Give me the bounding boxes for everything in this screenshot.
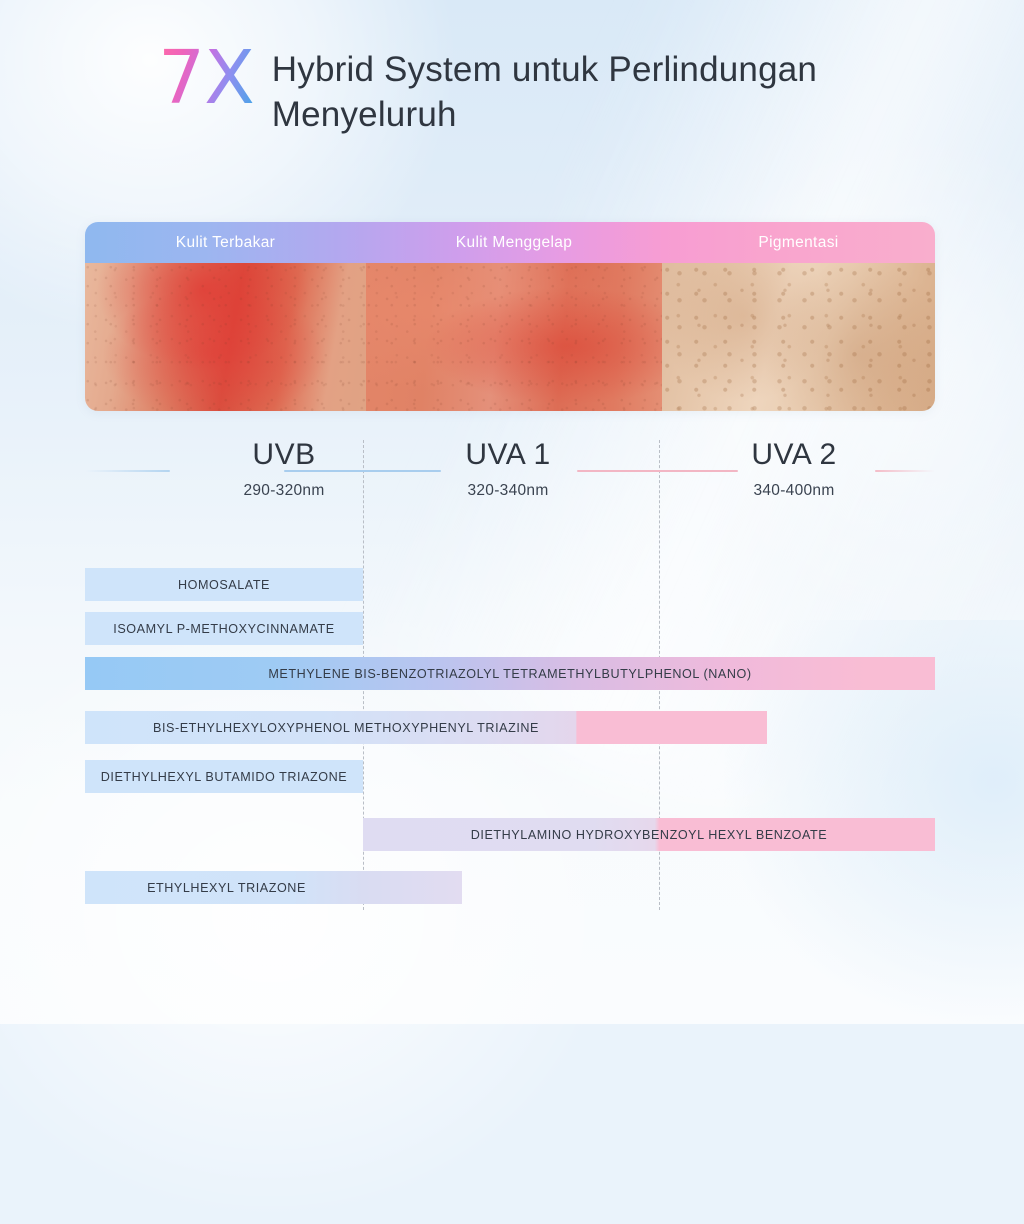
- ingredient-coverage-chart: HOMOSALATE ISOAMYL P-METHOXYCINNAMATE ME…: [0, 0, 1024, 1024]
- ingredient-bar-diethylhexyl-butamido-triazone: DIETHYLHEXYL BUTAMIDO TRIAZONE: [85, 760, 363, 793]
- ingredient-bar-ethylhexyl-triazone: ETHYLHEXYL TRIAZONE: [85, 871, 462, 904]
- ingredient-bar-homosalate: HOMOSALATE: [85, 568, 363, 601]
- ingredient-bar-bis-ethylhexyloxyphenol-methoxyphenyl-triazine: BIS-ETHYLHEXYLOXYPHENOL METHOXYPHENYL TR…: [85, 711, 767, 744]
- ingredient-bar-diethylamino-hydroxybenzoyl-hexyl-benzoate: DIETHYLAMINO HYDROXYBENZOYL HEXYL BENZOA…: [363, 818, 935, 851]
- ingredient-bar-methylene-bis-benzotriazolyl: METHYLENE BIS-BENZOTRIAZOLYL TETRAMETHYL…: [85, 657, 935, 690]
- ingredient-bar-isoamyl-p-methoxycinnamate: ISOAMYL P-METHOXYCINNAMATE: [85, 612, 363, 645]
